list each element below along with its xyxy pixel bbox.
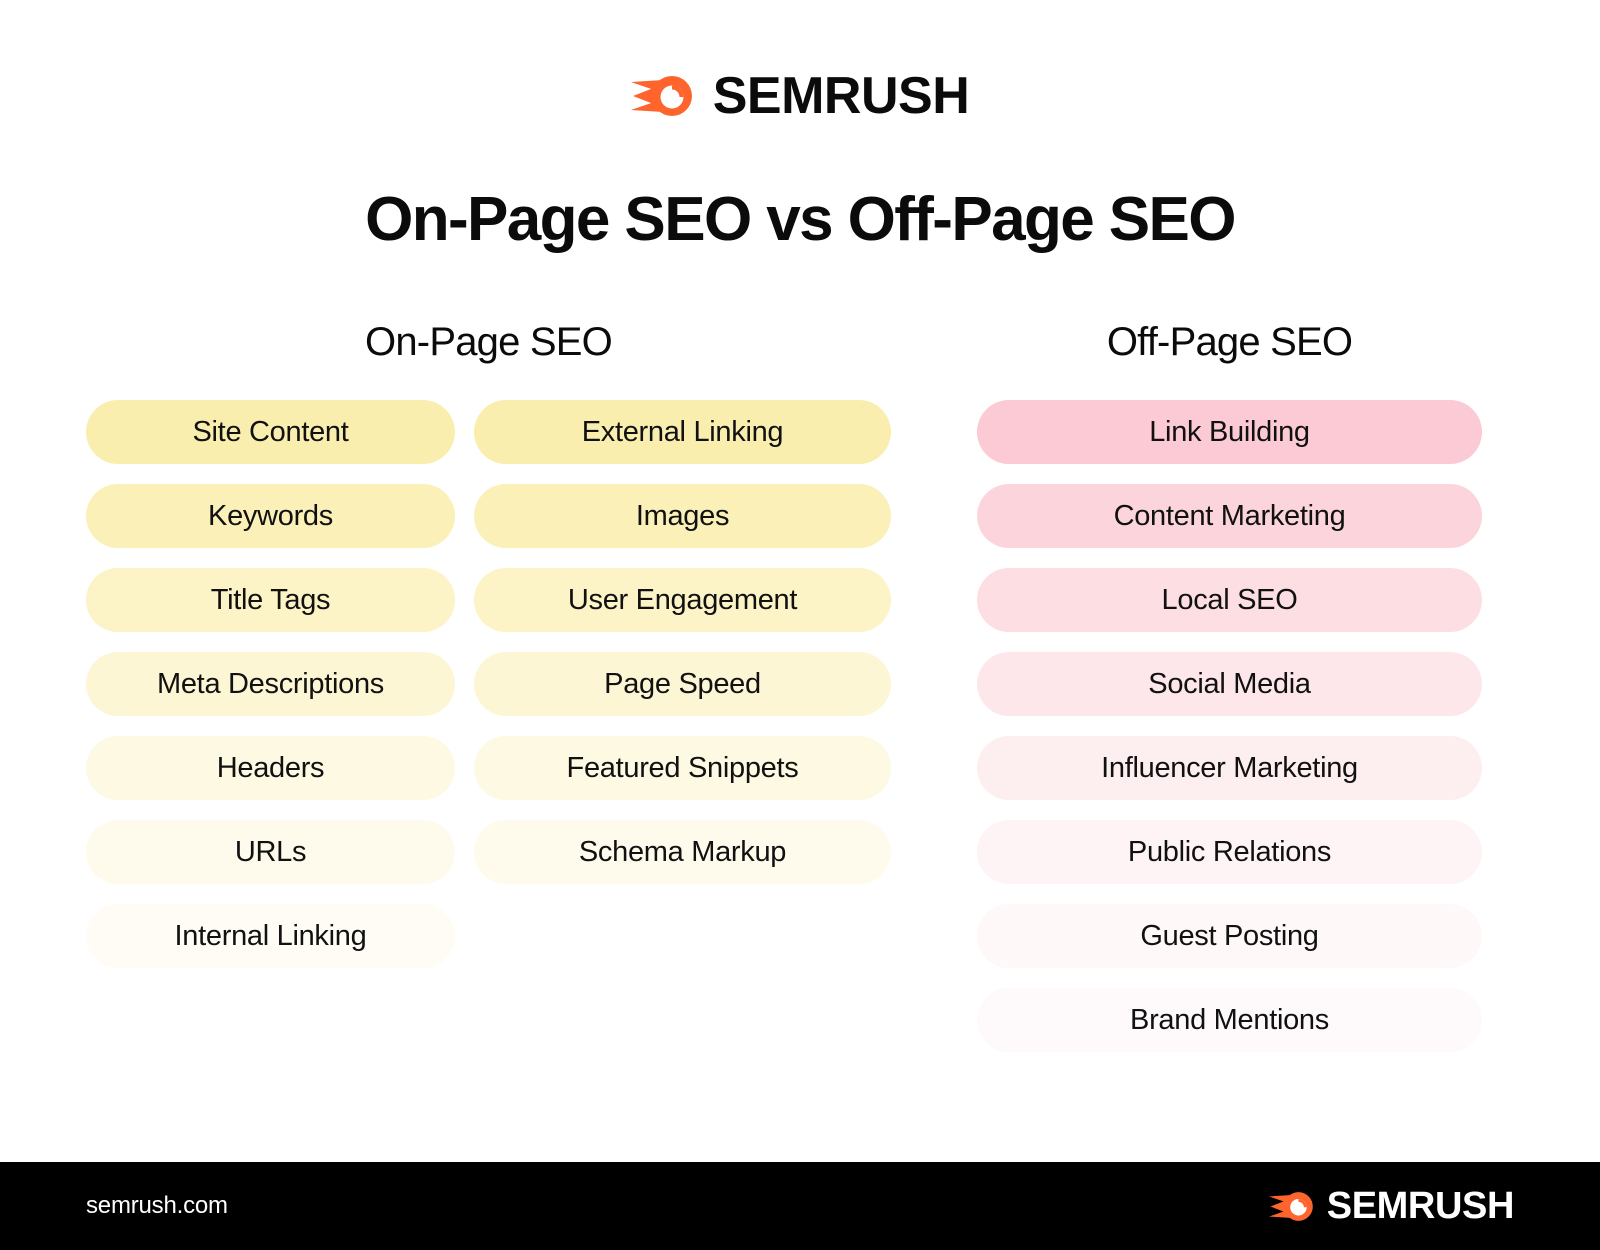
page-title: On-Page SEO vs Off-Page SEO xyxy=(0,186,1600,254)
pill-label: Site Content xyxy=(193,416,349,449)
column-heading-off-page: Off-Page SEO xyxy=(977,322,1482,362)
pill-label: Public Relations xyxy=(1128,836,1331,869)
pill-label: Influencer Marketing xyxy=(1101,752,1358,785)
pill-label: Keywords xyxy=(208,500,333,533)
off-page-column: Link BuildingContent MarketingLocal SEOS… xyxy=(977,400,1482,1052)
pill-label: Headers xyxy=(217,752,325,785)
pill-label: Link Building xyxy=(1149,416,1310,449)
pill-item: Schema Markup xyxy=(474,820,891,884)
pill-label: Images xyxy=(636,500,729,533)
pill-item: Page Speed xyxy=(474,652,891,716)
pill-item: Social Media xyxy=(977,652,1482,716)
pill-label: Featured Snippets xyxy=(567,752,799,785)
pill-label: Schema Markup xyxy=(579,836,786,869)
pill-label: URLs xyxy=(235,836,306,869)
pill-item: URLs xyxy=(86,820,455,884)
column-headings: On-Page SEO Off-Page SEO xyxy=(0,322,1600,378)
pill-item: Local SEO xyxy=(977,568,1482,632)
pill-item: External Linking xyxy=(474,400,891,464)
pill-item: User Engagement xyxy=(474,568,891,632)
pill-item: Brand Mentions xyxy=(977,988,1482,1052)
pill-item: Site Content xyxy=(86,400,455,464)
pill-label: Title Tags xyxy=(211,584,331,617)
pill-label: User Engagement xyxy=(568,584,797,617)
pill-item: Content Marketing xyxy=(977,484,1482,548)
column-heading-on-page: On-Page SEO xyxy=(86,322,891,362)
pill-item: Images xyxy=(474,484,891,548)
footer-bar: semrush.com SEMRUSH xyxy=(0,1162,1600,1250)
pill-item: Headers xyxy=(86,736,455,800)
pill-label: Internal Linking xyxy=(175,920,367,953)
header-brand: SEMRUSH xyxy=(0,70,1600,122)
on-page-column-b: External LinkingImagesUser EngagementPag… xyxy=(474,400,891,884)
footer-url[interactable]: semrush.com xyxy=(86,1192,228,1220)
semrush-comet-icon xyxy=(631,73,695,119)
pill-item: Internal Linking xyxy=(86,904,455,968)
pill-label: Page Speed xyxy=(604,668,761,701)
comparison-board: On-Page SEO Off-Page SEO Site ContentKey… xyxy=(0,322,1600,1060)
pill-item: Keywords xyxy=(86,484,455,548)
pill-label: External Linking xyxy=(582,416,784,449)
pill-item: Influencer Marketing xyxy=(977,736,1482,800)
pill-item: Featured Snippets xyxy=(474,736,891,800)
footer-brand: SEMRUSH xyxy=(1269,1187,1514,1225)
pill-columns: Site ContentKeywordsTitle TagsMeta Descr… xyxy=(0,400,1600,1060)
brand-wordmark: SEMRUSH xyxy=(713,70,970,122)
on-page-column-a: Site ContentKeywordsTitle TagsMeta Descr… xyxy=(86,400,455,968)
pill-label: Brand Mentions xyxy=(1130,1004,1329,1037)
semrush-comet-icon xyxy=(1269,1190,1315,1223)
pill-label: Guest Posting xyxy=(1140,920,1318,953)
pill-item: Public Relations xyxy=(977,820,1482,884)
pill-item: Guest Posting xyxy=(977,904,1482,968)
pill-item: Link Building xyxy=(977,400,1482,464)
pill-label: Content Marketing xyxy=(1114,500,1346,533)
pill-item: Title Tags xyxy=(86,568,455,632)
pill-label: Social Media xyxy=(1148,668,1310,701)
footer-wordmark: SEMRUSH xyxy=(1327,1187,1514,1225)
pill-label: Local SEO xyxy=(1162,584,1298,617)
pill-item: Meta Descriptions xyxy=(86,652,455,716)
pill-label: Meta Descriptions xyxy=(157,668,384,701)
